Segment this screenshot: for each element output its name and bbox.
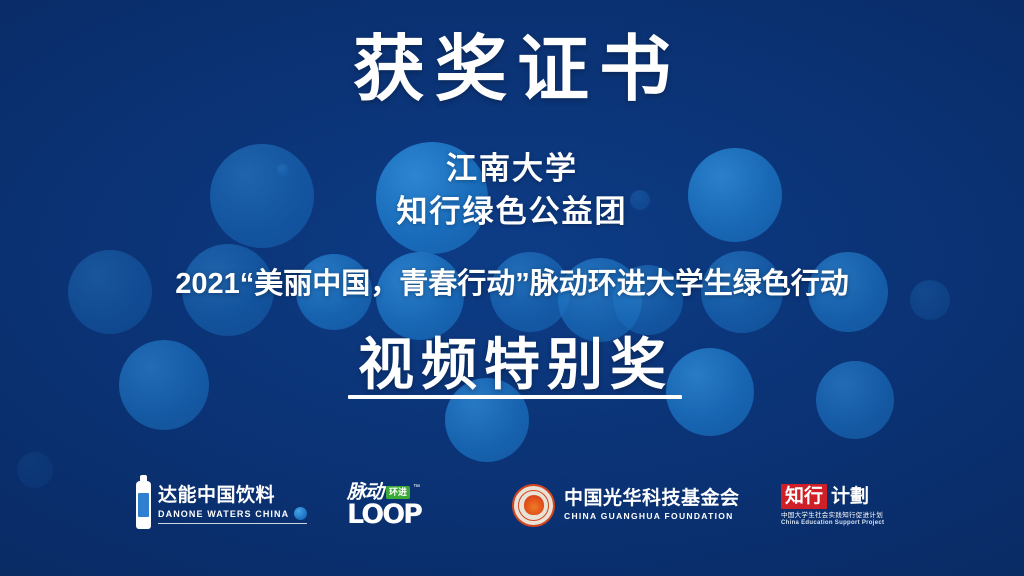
certificate-slide: 获奖证书 江南大学 知行绿色公益团 2021“美丽中国，青春行动”脉动环进大学生… (0, 0, 1024, 576)
zhixing-top-row: 知行 计劃 (781, 484, 870, 509)
zhixing-name-red: 知行 (781, 484, 827, 509)
mizone-badge: 环进 (386, 486, 410, 499)
danone-en-row: DANONE WATERS CHINA (158, 507, 307, 520)
program-title: 2021“美丽中国，青春行动”脉动环进大学生绿色行动 (0, 260, 1024, 302)
logo-zhixing-plan: 知行 计劃 中国大学生社会实践知行促进计划 China Education Su… (781, 470, 884, 540)
water-bottle-icon (136, 481, 151, 529)
page-title: 获奖证书 (0, 34, 1024, 107)
award-name: 视频特别奖 (351, 336, 673, 395)
trademark-icon: ™ (413, 484, 420, 491)
zhixing-name-blue: 计劃 (830, 484, 870, 509)
danone-name-cn: 达能中国饮料 (158, 486, 307, 506)
guanghua-text: 中国光华科技基金会 CHINA GUANGHUA FOUNDATION (564, 489, 740, 522)
bottle-label-icon (138, 493, 149, 517)
logo-china-guanghua-foundation: 中国光华科技基金会 CHINA GUANGHUA FOUNDATION (512, 470, 740, 540)
zhixing-sub-cn: 中国大学生社会实践知行促进计划 (781, 513, 884, 520)
logo-danone-waters-china: 达能中国饮料 DANONE WATERS CHINA (136, 470, 307, 540)
certificate-content: 获奖证书 江南大学 知行绿色公益团 2021“美丽中国，青春行动”脉动环进大学生… (0, 0, 1024, 576)
zhixing-sub-en: China Education Support Project (781, 520, 884, 526)
guanghua-name-en: CHINA GUANGHUA FOUNDATION (564, 511, 740, 521)
mizone-wordmark: LOOP (347, 501, 421, 528)
danone-name-en: DANONE WATERS CHINA (158, 509, 289, 519)
recipient-team: 知行绿色公益团 (0, 191, 1024, 234)
divider (158, 523, 307, 524)
recipient-organization: 江南大学 (0, 148, 1024, 191)
logo-mizone-loop: 脉动 环进 ™ LOOP (347, 470, 421, 540)
danone-text: 达能中国饮料 DANONE WATERS CHINA (158, 486, 307, 525)
award-block: 视频特别奖 (0, 336, 1024, 395)
flame-seal-icon (512, 484, 555, 527)
flame-icon (524, 495, 544, 515)
zhixing-subtitle: 中国大学生社会实践知行促进计划 China Education Support … (781, 513, 884, 527)
globe-icon (294, 507, 307, 520)
recipient-block: 江南大学 知行绿色公益团 (0, 148, 1024, 234)
sponsor-logo-strip: 达能中国饮料 DANONE WATERS CHINA 脉动 环进 ™ LOOP (0, 470, 1024, 540)
guanghua-name-cn: 中国光华科技基金会 (564, 489, 740, 510)
award-underline (348, 395, 682, 399)
